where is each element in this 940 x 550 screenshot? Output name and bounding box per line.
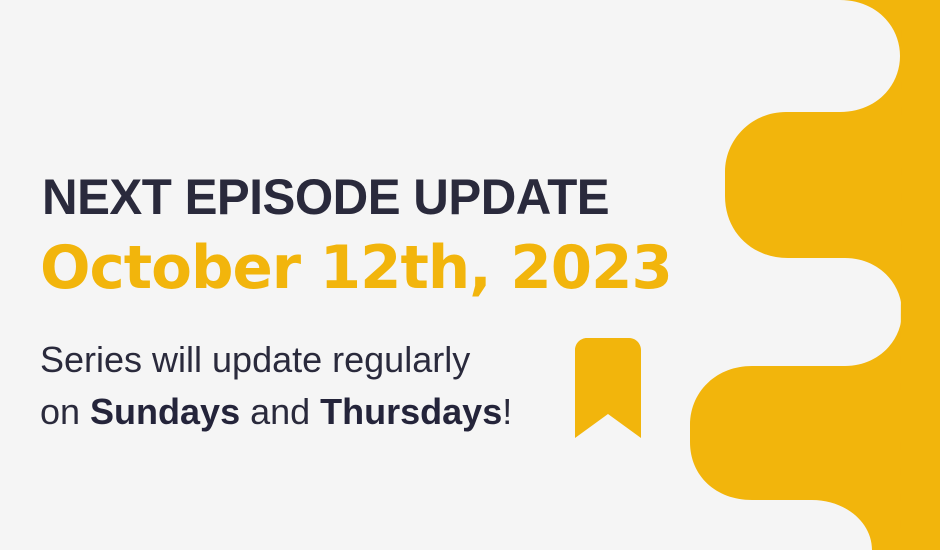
page-title: NEXT EPISODE UPDATE bbox=[42, 172, 609, 222]
schedule-line-1: Series will update regularly bbox=[40, 334, 512, 386]
schedule-line-2-conjunction: and bbox=[240, 391, 320, 432]
schedule-line-2: on Sundays and Thursdays! bbox=[40, 386, 512, 438]
banner-content: NEXT EPISODE UPDATE October 12th, 2023 S… bbox=[40, 0, 700, 550]
schedule-day-sundays: Sundays bbox=[90, 391, 240, 432]
episode-date: October 12th, 2023 bbox=[40, 235, 672, 301]
schedule-day-thursdays: Thursdays bbox=[320, 391, 502, 432]
schedule-line-2-suffix: ! bbox=[502, 391, 512, 432]
schedule-description: Series will update regularly on Sundays … bbox=[40, 334, 512, 438]
next-episode-update-banner: NEXT EPISODE UPDATE October 12th, 2023 S… bbox=[0, 0, 940, 550]
wavy-blob-shape bbox=[690, 0, 940, 550]
bookmark-ribbon-icon bbox=[575, 338, 641, 438]
schedule-line-2-prefix: on bbox=[40, 391, 90, 432]
